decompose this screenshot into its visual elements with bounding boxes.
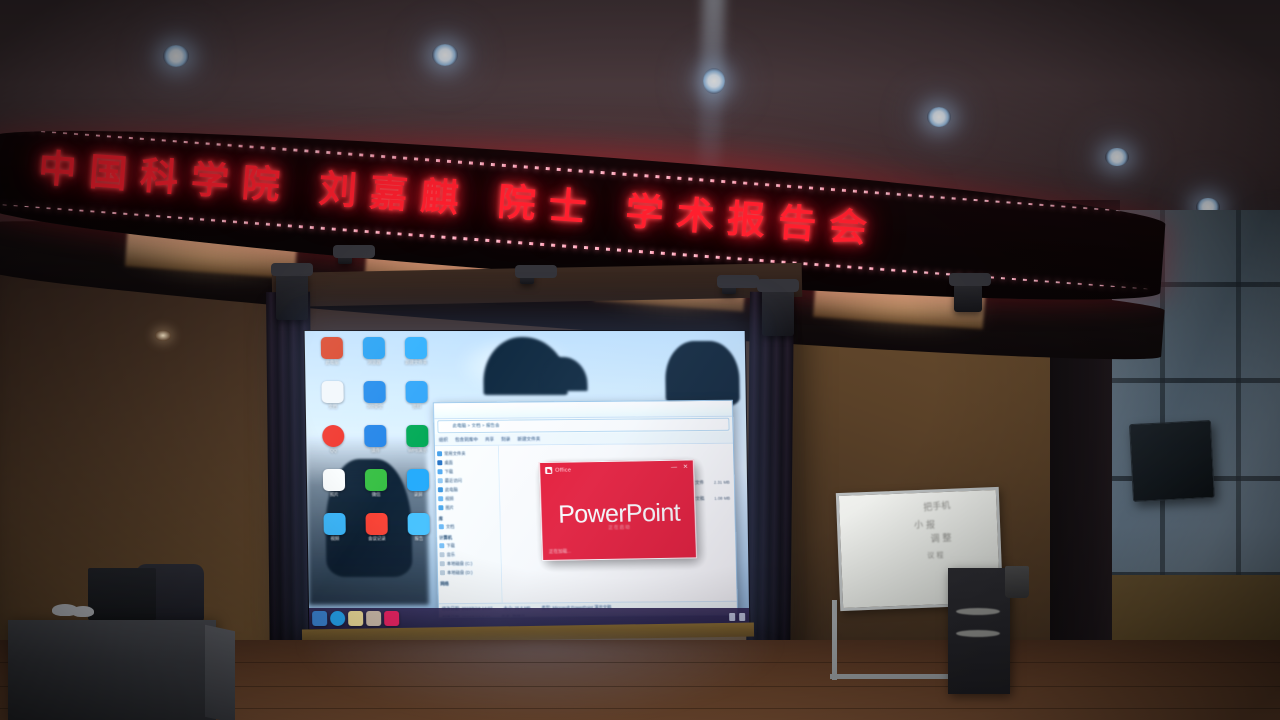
- whiteboard-note: 调 整: [930, 534, 951, 546]
- powerpoint-splash-window[interactable]: Office — ✕ PowerPoint 正在启动 正在加载...: [539, 459, 697, 561]
- ceiling-mount-2: [520, 274, 534, 284]
- office-brand-row: Office: [545, 467, 571, 474]
- app-icon: [323, 513, 345, 535]
- explorer-menu-item[interactable]: 新建文件夹: [517, 436, 540, 442]
- downlight-1: [163, 45, 189, 67]
- splash-window-controls[interactable]: — ✕: [671, 464, 688, 470]
- whiteboard-note: 把手机: [923, 501, 951, 514]
- ceiling-mount-3: [722, 284, 736, 294]
- app-icon: [364, 425, 386, 447]
- desktop-icon[interactable]: QQ: [312, 423, 355, 465]
- nav-item-label: 文档: [446, 524, 455, 530]
- desktop-icon-label: 视频: [314, 536, 356, 548]
- desktop-icon[interactable]: 报告: [397, 511, 440, 553]
- wps-icon: [406, 425, 428, 447]
- auditorium-scene: 中国科学院 刘嘉麒 院士 学术报告会 此电脑: [0, 0, 1280, 720]
- windows-desktop[interactable]: 此电脑 浏览器 新建文件夹 文档 360安全: [305, 331, 750, 629]
- desktop-icon-grid[interactable]: 此电脑 浏览器 新建文件夹 文档 360安全: [311, 335, 442, 553]
- desktop-icon-label: QQ: [312, 448, 354, 460]
- nav-heading: 库: [439, 516, 498, 523]
- desktop-icon[interactable]: 会议记录: [355, 511, 398, 553]
- drive-icon: [440, 570, 445, 575]
- office-brand-label: Office: [555, 467, 571, 473]
- app-icon: [405, 337, 427, 359]
- wall-sconce-light: [155, 330, 171, 341]
- app-icon: [405, 381, 427, 403]
- nav-item-label: 图片: [445, 505, 454, 511]
- explorer-nav-pane[interactable]: 常用文件夹 桌面 下载 最近访问: [435, 446, 503, 604]
- music-icon: [439, 543, 444, 548]
- recent-icon: [438, 478, 443, 483]
- explorer-menu-item[interactable]: 刻录: [501, 436, 510, 442]
- explorer-body: 常用文件夹 桌面 下载 最近访问: [435, 444, 737, 604]
- nav-item[interactable]: 图片: [438, 503, 497, 513]
- whiteboard-note: 议 程: [927, 550, 944, 562]
- downlight-3: [703, 68, 725, 94]
- wallpaper-mountain-far: [541, 357, 588, 391]
- app-icon: [365, 513, 387, 535]
- app-icon: [321, 381, 343, 403]
- desktop-icon[interactable]: 360安全: [353, 379, 396, 421]
- desktop-icon[interactable]: 文档: [311, 379, 354, 421]
- projection-screen[interactable]: 此电脑 浏览器 新建文件夹 文档 360安全: [304, 330, 751, 630]
- documents-icon: [439, 524, 444, 529]
- nav-item[interactable]: 本地磁盘 (D:): [440, 568, 499, 578]
- stage-light-right: [762, 288, 794, 336]
- desktop-icon[interactable]: 此电脑: [311, 335, 354, 377]
- explorer-titlebar[interactable]: [434, 401, 732, 420]
- nav-item-label: 本地磁盘 (D:): [447, 569, 473, 575]
- file-size: 1.08 MB: [714, 496, 730, 502]
- app-icon: [363, 381, 385, 403]
- minimize-icon[interactable]: —: [671, 465, 677, 471]
- explorer-file-list[interactable]: 报告文件 2.31 MB 演示文稿 1.08 MB Office: [499, 444, 737, 603]
- powerpoint-loading-text: 正在加载...: [549, 549, 571, 555]
- desktop-icon-label: 此电脑: [311, 360, 353, 372]
- cabinet-handle: [956, 608, 1000, 615]
- office-logo-icon: [545, 467, 552, 474]
- nav-item-label: 音乐: [446, 552, 455, 558]
- powerpoint-subtitle: 正在启动: [542, 523, 697, 532]
- close-icon[interactable]: ✕: [683, 464, 688, 470]
- desktop-icon-label: 新建文件夹: [395, 360, 437, 372]
- computer-icon: [438, 487, 443, 492]
- desktop-icon[interactable]: 课件: [354, 423, 397, 465]
- downlight-2: [432, 44, 458, 66]
- desk-monitor: [88, 568, 156, 620]
- explorer-icon[interactable]: [348, 611, 363, 626]
- desktop-icon-label: 会议记录: [356, 536, 398, 548]
- wall-speaker: [1129, 420, 1215, 502]
- desktop-icon[interactable]: 浏览器: [353, 335, 396, 377]
- powerpoint-icon[interactable]: [384, 611, 399, 626]
- drive-icon: [440, 561, 445, 566]
- wechat-icon: [365, 469, 387, 491]
- explorer-address-bar[interactable]: 此电脑 > 文档 > 报告会: [437, 418, 729, 434]
- desktop-icon-label: 资料: [396, 404, 438, 416]
- ceiling-mount-1: [338, 254, 352, 264]
- nav-item-label: 常用文件夹: [444, 451, 466, 457]
- desktop-icon-label: 录屏: [397, 492, 439, 504]
- desk-item-2: [72, 606, 94, 617]
- qq-icon: [322, 425, 344, 447]
- control-desk: [8, 620, 216, 720]
- nav-item-label: 此电脑: [445, 487, 458, 493]
- video-icon: [438, 496, 443, 501]
- browser-icon[interactable]: [330, 611, 345, 626]
- folder-icon: [437, 451, 442, 456]
- cabinet-handle: [956, 630, 1000, 637]
- nav-item-label: 最近访问: [445, 478, 462, 484]
- file-explorer-window[interactable]: 此电脑 > 文档 > 报告会 组织 包含到库中 共享 刻录 新建文件夹 常用文件…: [433, 400, 738, 619]
- stage-curtain-right: [746, 292, 794, 667]
- desktop-icon-label: WPS演示: [396, 448, 438, 460]
- desktop-icon-label: 报告: [398, 536, 440, 548]
- desktop-icon-label: 360安全: [354, 404, 396, 416]
- control-desk-side: [205, 625, 235, 720]
- desktop-icon[interactable]: 资料: [395, 379, 438, 421]
- desktop-icon[interactable]: 照片: [313, 467, 356, 509]
- photo-icon[interactable]: [366, 611, 381, 626]
- whiteboard-leg-left: [832, 600, 837, 680]
- app-icon: [363, 337, 385, 359]
- desktop-icon-label: 照片: [313, 492, 355, 504]
- desktop-icon-label: 课件: [354, 448, 396, 460]
- desktop-icon[interactable]: WPS演示: [396, 423, 439, 465]
- nav-item-label: 视频: [445, 496, 454, 502]
- desktop-icon-label: 文档: [312, 404, 354, 416]
- download-icon: [437, 469, 442, 474]
- drive-icon: [439, 552, 444, 557]
- nav-heading: 计算机: [439, 535, 498, 542]
- stage-light-left: [276, 272, 308, 320]
- explorer-address-text: 此电脑 > 文档 > 报告会: [452, 423, 499, 429]
- wallpaper-tree-right: [665, 341, 740, 407]
- whiteboard-note: 小 报: [914, 521, 935, 532]
- nav-item-label: 下载: [446, 543, 455, 549]
- explorer-menu-item[interactable]: 包含到库中: [455, 436, 478, 442]
- app-icon: [407, 469, 429, 491]
- speaker-cluster-right: [954, 282, 982, 312]
- nav-item[interactable]: 文档: [439, 522, 498, 532]
- desktop-icon[interactable]: 新建文件夹: [395, 335, 438, 377]
- recycle-bin-icon[interactable]: [312, 611, 327, 626]
- nav-heading: 网络: [440, 581, 499, 588]
- nav-item-label: 下载: [444, 469, 453, 475]
- desktop-icon[interactable]: 微信: [355, 467, 398, 509]
- nav-item-label: 桌面: [444, 460, 453, 466]
- trash-bin: [1005, 566, 1029, 598]
- desktop-icon[interactable]: 视频: [313, 511, 356, 553]
- explorer-menu-item[interactable]: 共享: [485, 436, 494, 442]
- desktop-icon: [437, 460, 442, 465]
- explorer-menu-item[interactable]: 组织: [439, 437, 448, 443]
- app-icon: [321, 337, 343, 359]
- desktop-icon-label: 浏览器: [353, 360, 395, 372]
- app-icon: [323, 469, 345, 491]
- desktop-icon-label: 微信: [355, 492, 397, 504]
- av-cabinet: [948, 568, 1010, 694]
- app-icon: [408, 513, 430, 535]
- pictures-icon: [438, 505, 443, 510]
- file-size: 2.31 MB: [714, 480, 730, 486]
- desktop-icon[interactable]: 录屏: [397, 467, 440, 509]
- system-tray[interactable]: [729, 613, 745, 621]
- nav-item-label: 本地磁盘 (C:): [447, 560, 473, 566]
